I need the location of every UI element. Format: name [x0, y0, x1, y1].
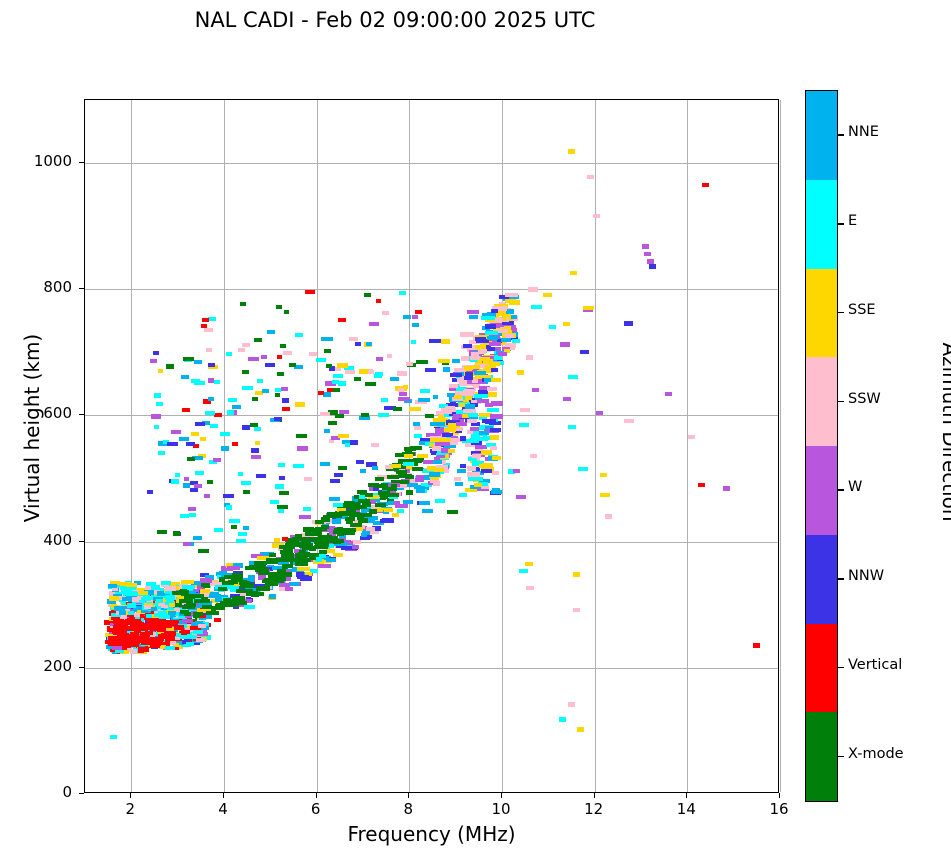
colorbar-label-w: W: [848, 479, 862, 495]
echo-point: [276, 305, 282, 309]
echo-point: [580, 350, 589, 354]
echo-point: [531, 305, 542, 309]
echo-point: [583, 306, 593, 310]
echo-point: [338, 318, 347, 322]
echo-point: [140, 632, 149, 636]
echo-point: [240, 302, 246, 306]
echo-point: [397, 371, 407, 375]
echo-point: [543, 293, 552, 297]
echo-point: [380, 496, 386, 500]
echo-point: [236, 539, 246, 543]
echo-point: [513, 469, 520, 473]
echo-scatter-layer: [85, 100, 778, 792]
x-axis-tick-label: 10: [471, 800, 531, 818]
echo-point: [269, 594, 276, 598]
echo-point: [248, 357, 259, 361]
echo-point: [151, 607, 157, 611]
echo-point: [474, 371, 486, 375]
echo-point: [419, 501, 430, 505]
echo-point: [560, 342, 570, 346]
colorbar-segment: [806, 180, 837, 269]
echo-point: [475, 337, 486, 341]
echo-point: [474, 394, 488, 398]
echo-point: [274, 538, 280, 542]
echo-point: [488, 392, 497, 396]
echo-point: [125, 637, 133, 641]
echo-point: [498, 352, 507, 356]
echo-point: [286, 540, 299, 544]
echo-point: [161, 581, 172, 585]
echo-point: [154, 425, 160, 429]
echo-point: [187, 605, 195, 609]
echo-point: [485, 419, 496, 423]
echo-point: [158, 369, 163, 373]
echo-point: [150, 637, 162, 641]
echo-point: [223, 494, 234, 498]
echo-point: [467, 310, 479, 314]
colorbar-segment: [806, 357, 837, 446]
echo-point: [467, 419, 477, 423]
echo-point: [255, 441, 260, 445]
echo-point: [302, 546, 315, 550]
echo-point: [218, 587, 227, 591]
echo-point: [127, 603, 136, 607]
echo-point: [191, 432, 200, 436]
echo-point: [233, 578, 240, 582]
echo-point: [196, 638, 205, 642]
echo-point: [624, 321, 633, 325]
colorbar-tick: [838, 756, 844, 757]
echo-point: [430, 422, 445, 426]
echo-point: [366, 527, 376, 531]
echo-point: [492, 471, 499, 475]
echo-point: [195, 471, 204, 475]
echo-point: [128, 619, 137, 623]
echo-point: [327, 388, 333, 392]
echo-point: [274, 417, 281, 421]
echo-point: [201, 324, 206, 328]
echo-point: [489, 362, 500, 366]
echo-point: [465, 404, 475, 408]
echo-point: [478, 350, 486, 354]
echo-point: [491, 378, 501, 382]
echo-point: [450, 402, 457, 406]
echo-point: [130, 632, 139, 636]
echo-point: [150, 359, 156, 363]
echo-point: [338, 466, 347, 470]
echo-point: [277, 372, 284, 376]
echo-point: [229, 519, 240, 523]
echo-point: [349, 337, 357, 341]
x-axis-tick-label: 12: [564, 800, 624, 818]
echo-point: [399, 291, 405, 295]
echo-point: [526, 355, 533, 360]
echo-point: [304, 477, 311, 481]
echo-point: [275, 393, 280, 397]
echo-point: [403, 462, 414, 466]
echo-point: [578, 467, 588, 471]
echo-point: [549, 325, 556, 330]
echo-point: [474, 483, 482, 487]
echo-point: [429, 339, 441, 343]
echo-point: [207, 480, 212, 484]
echo-point: [505, 299, 516, 303]
echo-point: [321, 337, 333, 341]
echo-point: [399, 392, 407, 396]
echo-point: [220, 432, 230, 436]
echo-point: [227, 410, 234, 414]
echo-point: [208, 363, 215, 367]
colorbar-title: Azimuth Direction: [938, 282, 951, 582]
x-axis-tick: [594, 793, 595, 798]
echo-point: [170, 641, 176, 645]
echo-point: [180, 514, 189, 518]
echo-point: [420, 389, 430, 393]
echo-point: [186, 442, 195, 446]
echo-point: [189, 513, 197, 517]
echo-point: [415, 310, 422, 314]
echo-point: [214, 618, 221, 623]
echo-point: [238, 532, 247, 536]
echo-point: [414, 426, 421, 430]
echo-point: [644, 252, 651, 257]
echo-point: [334, 530, 342, 534]
x-axis-tick: [779, 793, 780, 798]
echo-point: [278, 463, 285, 467]
echo-point: [279, 476, 285, 480]
echo-point: [232, 442, 238, 446]
echo-point: [279, 491, 289, 495]
echo-point: [487, 408, 499, 412]
echo-point: [355, 342, 360, 346]
echo-point: [226, 352, 232, 356]
echo-point: [204, 328, 212, 332]
echo-point: [490, 428, 501, 432]
echo-point: [600, 473, 607, 478]
echo-point: [202, 605, 212, 609]
echo-point: [593, 214, 600, 219]
ionogram-figure: NAL CADI - Feb 02 09:00:00 2025 UTC 2468…: [0, 0, 951, 856]
echo-point: [470, 356, 480, 360]
echo-point: [317, 543, 328, 547]
echo-point: [113, 620, 122, 624]
colorbar-tick: [838, 312, 844, 313]
echo-point: [165, 595, 175, 599]
echo-point: [278, 509, 284, 513]
grid-line-vertical: [780, 100, 781, 792]
echo-point: [329, 497, 340, 501]
echo-point: [171, 430, 180, 434]
echo-point: [289, 582, 299, 586]
echo-point: [649, 264, 656, 269]
echo-point: [238, 348, 245, 352]
echo-point: [244, 605, 255, 609]
echo-point: [138, 591, 148, 595]
echo-point: [227, 566, 240, 570]
echo-point: [231, 525, 236, 529]
echo-point: [285, 587, 293, 591]
colorbar[interactable]: [805, 90, 838, 802]
echo-point: [425, 414, 434, 418]
echo-point: [136, 606, 141, 610]
echo-point: [449, 384, 458, 388]
echo-point: [334, 473, 344, 477]
echo-point: [205, 411, 216, 415]
echo-point: [491, 490, 502, 494]
echo-point: [414, 434, 422, 438]
echo-point: [502, 321, 515, 325]
echo-point: [293, 464, 305, 468]
echo-point: [489, 342, 501, 346]
colorbar-tick: [838, 134, 844, 135]
echo-point: [573, 608, 580, 613]
echo-point: [206, 348, 212, 352]
echo-point: [485, 324, 497, 328]
echo-point: [320, 412, 330, 416]
echo-point: [381, 398, 387, 402]
echo-point: [150, 643, 161, 647]
echo-point: [277, 571, 283, 575]
echo-point: [134, 613, 140, 617]
echo-point: [563, 322, 570, 326]
x-axis-tick: [408, 793, 409, 798]
echo-point: [472, 454, 481, 458]
echo-point: [289, 363, 296, 367]
echo-point: [702, 183, 709, 188]
echo-point: [299, 515, 310, 519]
echo-point: [158, 451, 166, 455]
echo-point: [490, 435, 499, 439]
echo-point: [528, 287, 538, 291]
echo-point: [208, 378, 214, 382]
echo-point: [454, 395, 462, 399]
echo-point: [688, 435, 695, 440]
echo-point: [157, 628, 166, 632]
echo-point: [154, 585, 160, 589]
echo-point: [119, 611, 126, 615]
echo-point: [345, 517, 355, 521]
echo-point: [121, 601, 126, 605]
echo-point: [429, 472, 440, 476]
echo-point: [332, 519, 341, 523]
colorbar-tick: [838, 489, 844, 490]
echo-point: [464, 376, 473, 380]
echo-point: [168, 611, 175, 615]
echo-point: [481, 469, 492, 473]
echo-point: [372, 466, 378, 470]
echo-point: [252, 591, 258, 595]
echo-point: [147, 490, 153, 494]
echo-point: [232, 596, 246, 600]
echo-point: [321, 525, 328, 529]
echo-point: [496, 329, 508, 333]
echo-point: [133, 638, 140, 642]
colorbar-label-nne: NNE: [848, 124, 879, 140]
echo-point: [232, 573, 243, 577]
echo-point: [200, 578, 212, 582]
echo-point: [265, 363, 275, 367]
echo-point: [487, 387, 497, 391]
echo-point: [295, 402, 304, 406]
echo-point: [192, 594, 204, 598]
echo-point: [204, 494, 210, 498]
echo-point: [384, 508, 393, 512]
echo-point: [123, 643, 134, 647]
echo-point: [380, 519, 394, 523]
echo-point: [525, 562, 533, 566]
echo-point: [433, 481, 440, 485]
x-axis-tick: [223, 793, 224, 798]
echo-point: [410, 446, 417, 450]
echo-point: [393, 407, 402, 411]
echo-point: [532, 388, 539, 392]
echo-point: [415, 478, 424, 482]
x-axis-tick-label: 6: [286, 800, 346, 818]
echo-point: [413, 422, 420, 426]
echo-point: [423, 460, 433, 464]
echo-point: [456, 422, 467, 426]
echo-point: [359, 495, 365, 499]
echo-point: [181, 630, 190, 634]
echo-point: [323, 392, 331, 396]
echo-point: [481, 316, 495, 320]
echo-point: [212, 606, 224, 610]
colorbar-tick: [838, 223, 844, 224]
echo-point: [361, 533, 367, 537]
echo-point: [319, 550, 326, 554]
echo-point: [171, 479, 179, 483]
y-axis-tick: [79, 162, 84, 163]
echo-point: [429, 443, 434, 447]
echo-point: [435, 499, 444, 503]
echo-point: [467, 466, 476, 470]
echo-point: [468, 413, 477, 417]
echo-point: [305, 532, 312, 536]
echo-point: [324, 429, 330, 433]
echo-point: [325, 538, 335, 542]
y-axis-tick-label: 200: [12, 657, 72, 675]
echo-point: [511, 315, 517, 319]
echo-point: [151, 414, 160, 418]
echo-point: [642, 244, 649, 249]
echo-point: [332, 380, 339, 384]
echo-point: [206, 611, 220, 615]
x-axis-tick: [501, 793, 502, 798]
echo-point: [263, 579, 270, 583]
echo-point: [600, 493, 610, 497]
echo-point: [303, 507, 311, 511]
colorbar-segment: [806, 712, 837, 801]
echo-point: [512, 339, 520, 343]
echo-point: [333, 553, 343, 557]
echo-point: [450, 373, 462, 377]
colorbar-segment: [806, 624, 837, 713]
echo-point: [473, 365, 480, 369]
echo-point: [387, 354, 392, 358]
echo-point: [309, 352, 317, 356]
echo-point: [182, 585, 195, 589]
echo-point: [280, 344, 286, 348]
echo-point: [573, 572, 580, 577]
echo-point: [433, 395, 438, 399]
echo-point: [316, 358, 326, 362]
echo-point: [214, 528, 224, 532]
echo-point: [441, 448, 448, 452]
echo-point: [256, 474, 266, 478]
echo-point: [284, 558, 296, 562]
y-axis-tick: [79, 414, 84, 415]
echo-point: [213, 458, 221, 462]
echo-point: [333, 374, 343, 378]
echo-point: [338, 434, 348, 438]
echo-point: [352, 540, 361, 544]
echo-point: [250, 423, 258, 427]
y-axis-tick: [79, 541, 84, 542]
echo-point: [471, 352, 479, 356]
echo-point: [491, 368, 498, 372]
echo-point: [243, 490, 250, 494]
echo-point: [282, 537, 288, 541]
echo-point: [251, 455, 261, 459]
colorbar-tick: [838, 578, 844, 579]
echo-point: [406, 490, 413, 495]
echo-point: [359, 513, 372, 517]
echo-point: [305, 290, 315, 294]
echo-point: [568, 375, 578, 379]
colorbar-segment: [806, 91, 837, 180]
echo-point: [193, 536, 203, 540]
echo-point: [195, 422, 205, 426]
echo-point: [457, 469, 466, 473]
echo-point: [228, 398, 236, 402]
echo-point: [183, 483, 190, 487]
echo-point: [467, 472, 480, 476]
echo-point: [181, 375, 189, 379]
x-axis-tick: [130, 793, 131, 798]
x-axis-tick-label: 16: [749, 800, 809, 818]
echo-point: [435, 429, 443, 433]
echo-point: [210, 592, 219, 596]
echo-point: [568, 702, 575, 707]
echo-point: [398, 397, 410, 401]
echo-point: [269, 553, 275, 557]
echo-point: [490, 414, 503, 418]
echo-point: [337, 363, 348, 367]
echo-point: [374, 374, 382, 378]
echo-point: [277, 355, 282, 359]
echo-point: [131, 591, 136, 595]
echo-point: [181, 580, 194, 584]
echo-point: [181, 592, 187, 596]
echo-point: [111, 642, 120, 646]
echo-point: [368, 483, 379, 487]
echo-point: [295, 553, 304, 557]
echo-point: [417, 454, 428, 458]
echo-point: [156, 402, 163, 406]
echo-point: [282, 407, 290, 411]
x-axis-tick: [686, 793, 687, 798]
echo-point: [109, 596, 119, 600]
echo-point: [297, 567, 310, 571]
echo-point: [351, 506, 360, 510]
y-axis-tick: [79, 288, 84, 289]
echo-point: [166, 364, 175, 368]
echo-point: [491, 401, 503, 405]
echo-point: [477, 399, 489, 403]
echo-point: [182, 619, 193, 623]
echo-point: [108, 584, 118, 588]
echo-point: [409, 407, 421, 411]
